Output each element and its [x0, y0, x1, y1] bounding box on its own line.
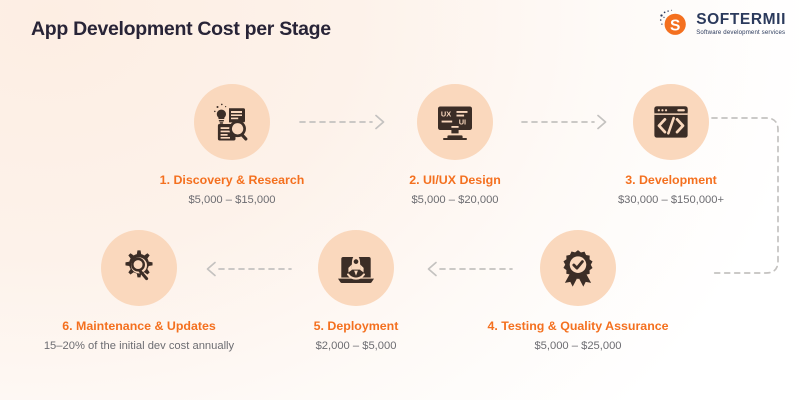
stage-1-discovery-research[interactable]: 1. Discovery & Research $5,000 – $15,000 — [117, 84, 347, 206]
svg-text:UI: UI — [459, 117, 466, 126]
stage-3-cost: $30,000 – $150,000+ — [556, 194, 786, 206]
softermii-logo-mark: S — [659, 9, 689, 39]
stage-3-development[interactable]: 3. Development $30,000 – $150,000+ — [556, 84, 786, 206]
stage-2-label: 2. UI/UX Design — [340, 173, 570, 187]
stage-5-label: 5. Deployment — [241, 319, 471, 333]
svg-text:UX: UX — [441, 109, 451, 118]
softermii-logo: S SOFTERMII Software development service… — [659, 9, 786, 39]
svg-text:S: S — [670, 17, 680, 34]
stage-5-deployment[interactable]: 5. Deployment $2,000 – $5,000 — [241, 230, 471, 352]
stage-2-ui-ux-design[interactable]: UX UI 2. UI/UX Design $5,000 – $20,000 — [340, 84, 570, 206]
award-badge-check-icon — [559, 249, 597, 287]
logo-name: SOFTERMII — [696, 12, 786, 28]
page-title: App Development Cost per Stage — [31, 18, 331, 41]
stage-1-cost: $5,000 – $15,000 — [117, 194, 347, 206]
stage-3-icon-circle — [633, 84, 709, 160]
document-magnifier-lightbulb-icon — [212, 102, 252, 142]
stage-1-label: 1. Discovery & Research — [117, 173, 347, 187]
infographic-canvas: App Development Cost per Stage S SOFTERM… — [0, 0, 800, 400]
stage-5-cost: $2,000 – $5,000 — [241, 340, 471, 352]
laptop-rocket-launch-icon — [336, 248, 376, 288]
stage-4-icon-circle — [540, 230, 616, 306]
logo-tagline: Software development services — [696, 30, 786, 36]
stage-4-testing-quality-assurance[interactable]: 4. Testing & Quality Assurance $5,000 – … — [463, 230, 693, 352]
stage-2-icon-circle: UX UI — [417, 84, 493, 160]
stage-1-icon-circle — [194, 84, 270, 160]
monitor-uxui-icon: UX UI — [435, 102, 475, 142]
gear-magnifier-icon — [120, 249, 158, 287]
browser-code-brackets-icon — [652, 103, 690, 141]
stage-6-label: 6. Maintenance & Updates — [24, 319, 254, 333]
stage-5-icon-circle — [318, 230, 394, 306]
stage-2-cost: $5,000 – $20,000 — [340, 194, 570, 206]
stage-6-cost: 15–20% of the initial dev cost annually — [24, 340, 254, 352]
stage-4-label: 4. Testing & Quality Assurance — [463, 319, 693, 333]
stage-6-icon-circle — [101, 230, 177, 306]
stage-3-label: 3. Development — [556, 173, 786, 187]
stage-4-cost: $5,000 – $25,000 — [463, 340, 693, 352]
stage-6-maintenance-updates[interactable]: 6. Maintenance & Updates 15–20% of the i… — [24, 230, 254, 352]
